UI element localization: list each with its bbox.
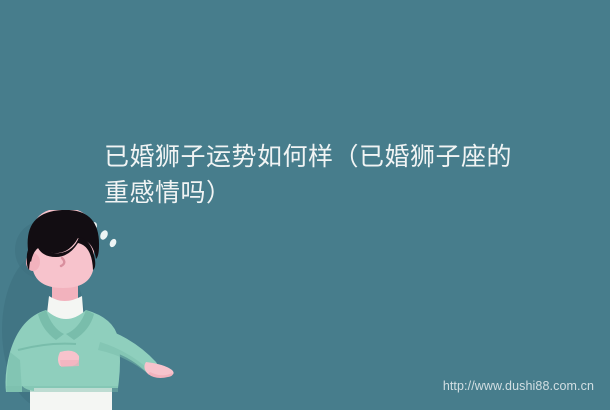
jacket-hem (6, 386, 118, 392)
watermark-url: http://www.dushi88.com.cn (443, 379, 594, 393)
pants (30, 378, 112, 410)
pocket-hand-shade (60, 360, 79, 367)
jacket (6, 310, 121, 392)
person-illustration-svg (0, 210, 200, 410)
figure-shadow (2, 252, 86, 408)
page-title: 已婚狮子运势如何样（已婚狮子座的重感情吗） (104, 139, 534, 211)
jacket-seam (18, 344, 76, 350)
right-hand (144, 362, 173, 378)
person-illustration (0, 210, 200, 410)
right-arm-shade (98, 342, 149, 373)
nose (61, 258, 64, 266)
pocket-hand (58, 351, 79, 366)
right-hand-shade (148, 372, 173, 378)
hair (28, 210, 99, 262)
ear (26, 253, 40, 271)
jacket-lapel-right (66, 310, 94, 340)
face (32, 210, 94, 288)
banner-image: 已婚狮子运势如何样（已婚狮子座的重感情吗） http://www.dushi88… (0, 0, 610, 410)
jacket-side-shade (7, 352, 22, 392)
jacket-lapel-left (38, 310, 64, 340)
hair-fringe (27, 237, 96, 270)
head-shadow (15, 222, 65, 278)
sparkle-icon (87, 221, 117, 249)
collar (46, 296, 84, 322)
right-arm (92, 326, 158, 374)
neck (52, 272, 78, 306)
